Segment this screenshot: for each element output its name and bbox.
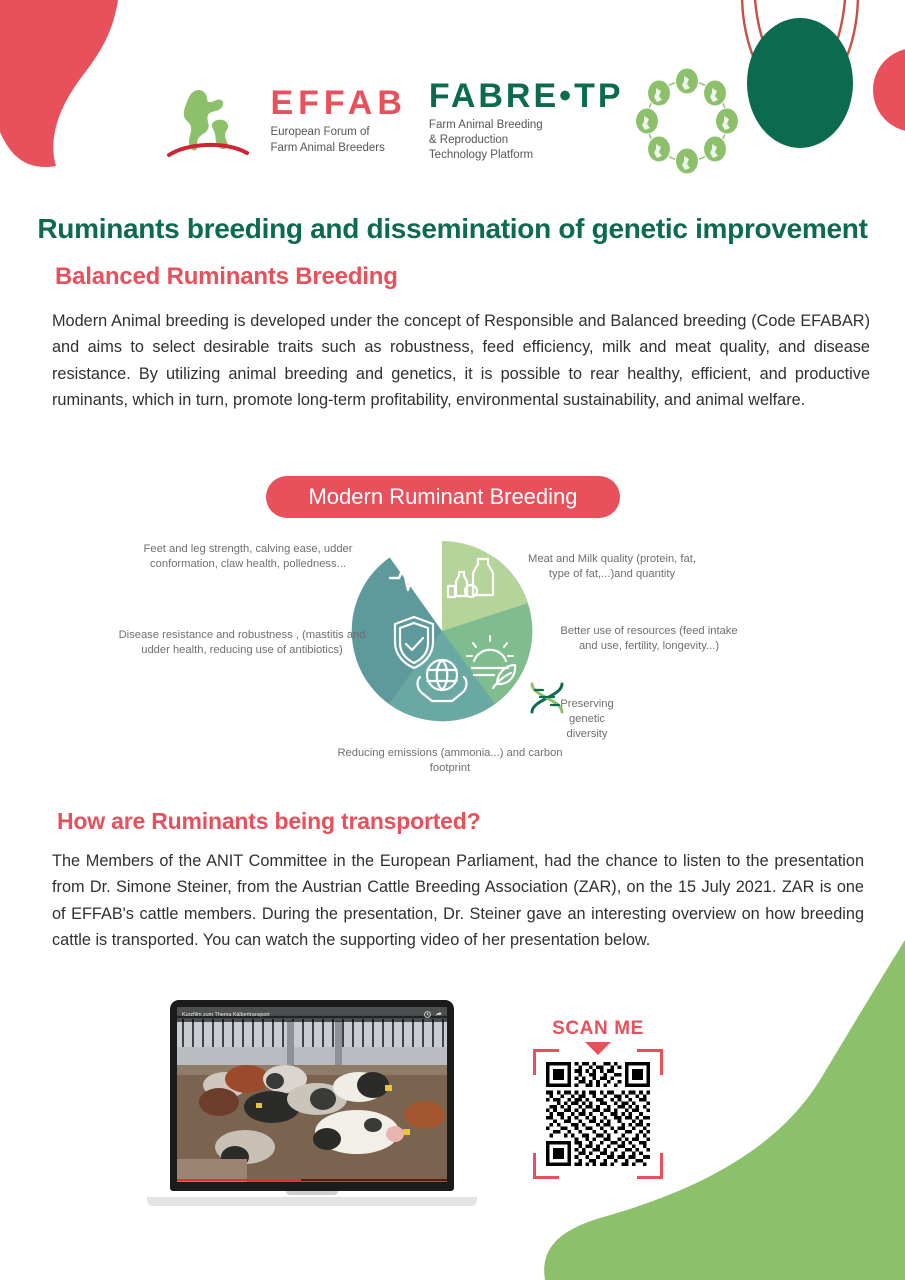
- laptop-lid: Kurzfilm zum Thema Kälbertransport: [170, 1000, 454, 1191]
- qr-code[interactable]: [546, 1062, 650, 1166]
- laptop-notch: [286, 1191, 338, 1195]
- clock-icon[interactable]: [424, 1011, 431, 1018]
- fabre-tp-logo: FABRE•TP Farm Animal Breeding& Reproduct…: [429, 79, 624, 164]
- laptop-base: [147, 1197, 477, 1206]
- dna-helix-icon: [524, 678, 570, 718]
- section-heading-balanced-breeding: Balanced Ruminants Breeding: [55, 263, 398, 291]
- chart-title-pill: Modern Ruminant Breeding: [266, 476, 620, 518]
- section-paragraph-transport: The Members of the ANIT Committee in the…: [52, 848, 864, 954]
- share-icon[interactable]: [435, 1011, 442, 1018]
- page-title: Ruminants breeding and dissemination of …: [0, 213, 905, 245]
- globe-ring-icon: [628, 62, 746, 180]
- qr-scan-block[interactable]: SCAN ME: [518, 1018, 678, 1179]
- pie-svg: [347, 536, 537, 726]
- laptop-mockup: Kurzfilm zum Thema Kälbertransport: [147, 1000, 477, 1206]
- effab-logo: EFFAB European Forum ofFarm Animal Breed…: [270, 86, 406, 155]
- pie-label-emissions: Reducing emissions (ammonia...) and carb…: [330, 746, 570, 776]
- pie-label-resources: Better use of resources (feed intake and…: [556, 624, 742, 654]
- section-paragraph-balanced-breeding: Modern Animal breeding is developed unde…: [52, 308, 870, 414]
- video-player[interactable]: Kurzfilm zum Thema Kälbertransport: [177, 1007, 447, 1182]
- qr-frame: [533, 1049, 663, 1179]
- fabre-subtitle: Farm Animal Breeding& ReproductionTechno…: [429, 118, 624, 164]
- pie-label-meat-milk: Meat and Milk quality (protein, fat, typ…: [528, 552, 696, 582]
- pie-label-feet-leg: Feet and leg strength, calving ease, udd…: [128, 542, 368, 572]
- video-title: Kurzfilm zum Thema Kälbertransport: [182, 1012, 420, 1018]
- section-heading-transport: How are Ruminants being transported?: [57, 808, 480, 835]
- effab-wordmark: EFFAB: [270, 86, 406, 120]
- brand-logo-row: EFFAB European Forum ofFarm Animal Breed…: [0, 62, 905, 180]
- video-title-bar: Kurzfilm zum Thema Kälbertransport: [177, 1007, 447, 1022]
- effab-subtitle: European Forum ofFarm Animal Breeders: [270, 125, 406, 155]
- fabre-wordmark: FABRE•TP: [429, 79, 624, 113]
- pie-label-disease-resistance: Disease resistance and robustness , (mas…: [118, 628, 366, 658]
- scan-me-label: SCAN ME: [518, 1018, 678, 1040]
- cow-silhouette-icon: [159, 81, 264, 161]
- video-progress-bar[interactable]: [177, 1179, 447, 1181]
- ruminant-breeding-pie-chart: Feet and leg strength, calving ease, udd…: [0, 536, 905, 786]
- video-still-calves: [177, 1007, 447, 1182]
